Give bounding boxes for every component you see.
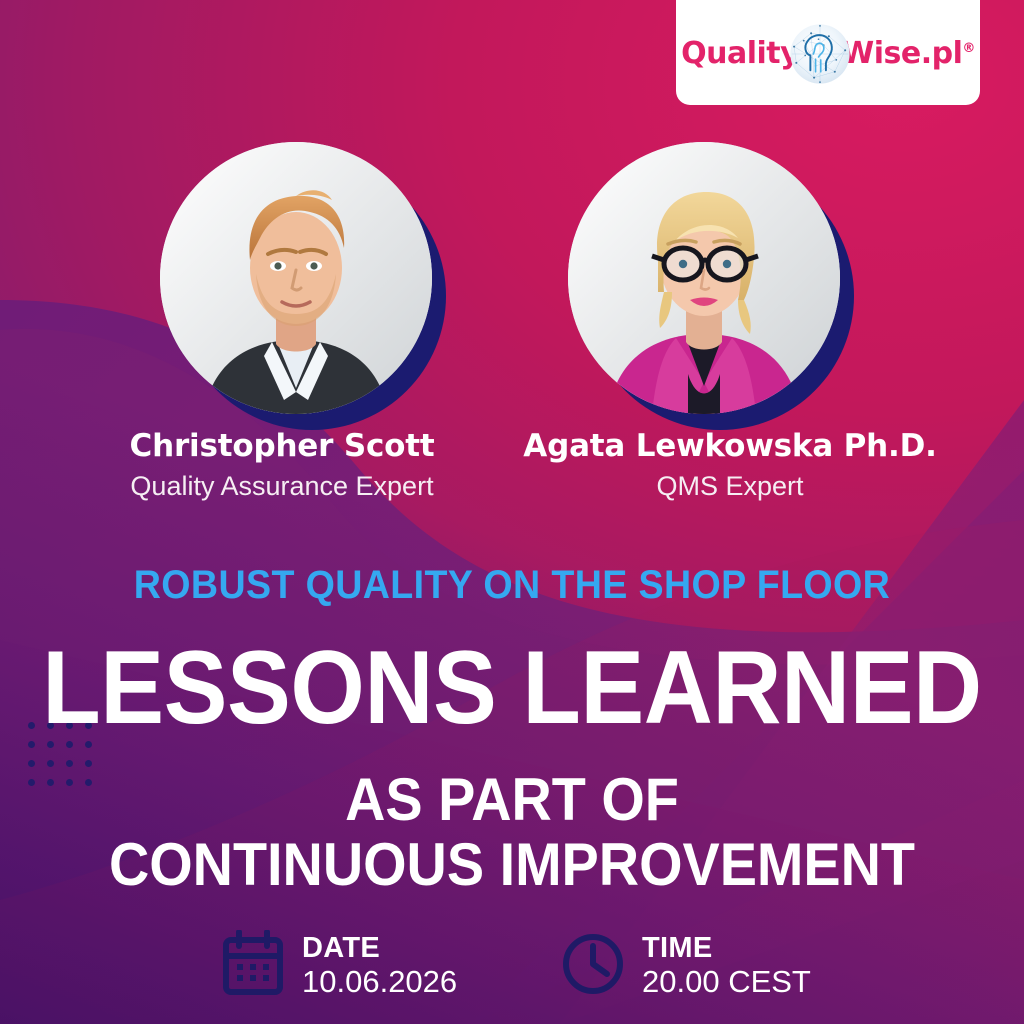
brain-network-sphere-icon <box>783 17 857 91</box>
logo-text-quality: Quality <box>681 39 799 69</box>
speaker-name-block-1: Christopher Scott Quality Assurance Expe… <box>52 430 512 503</box>
event-meta: DATE 10.06.2026 TIME 20.00 CEST <box>0 930 1024 1010</box>
clock-icon <box>562 930 624 1001</box>
brand-logo: Quality <box>681 17 975 91</box>
logo-text-wise: Wise.pl® <box>841 39 975 69</box>
event-date-text: DATE 10.06.2026 <box>302 933 457 999</box>
headline-kicker: ROBUST QUALITY ON THE SHOP FLOOR <box>31 563 994 608</box>
brand-logo-card: Quality <box>676 0 980 105</box>
speaker-role: QMS Expert <box>500 470 960 502</box>
date-value: 10.06.2026 <box>302 966 457 999</box>
headline-subtitle-line-2: CONTINUOUS IMPROVEMENT <box>36 833 988 898</box>
headline-subtitle-line-1: AS PART OF <box>36 768 988 833</box>
speaker-photos <box>0 132 1024 432</box>
event-date-block: DATE 10.06.2026 <box>222 930 457 1001</box>
registered-trademark-icon: ® <box>962 41 975 56</box>
speaker-role: Quality Assurance Expert <box>52 470 512 502</box>
time-label: TIME <box>642 933 811 963</box>
speaker-name-block-2: Agata Lewkowska Ph.D. QMS Expert <box>500 430 960 503</box>
speaker-avatar-1 <box>148 132 448 432</box>
headline-subtitle: AS PART OF CONTINUOUS IMPROVEMENT <box>36 768 988 898</box>
headline-main-title: LESSONS LEARNED <box>41 636 983 740</box>
time-value: 20.00 CEST <box>642 966 811 999</box>
date-label: DATE <box>302 933 457 963</box>
speaker-photo-agata-lewkowska <box>568 142 840 414</box>
calendar-icon <box>222 930 284 1001</box>
webinar-poster: Quality <box>0 0 1024 1024</box>
speaker-name: Christopher Scott <box>52 430 512 463</box>
logo-text-wise-label: Wise.pl <box>841 36 962 71</box>
speaker-photo-christopher-scott <box>160 142 432 414</box>
speaker-avatar-2 <box>556 132 856 432</box>
speaker-name: Agata Lewkowska Ph.D. <box>500 430 960 463</box>
speaker-names: Christopher Scott Quality Assurance Expe… <box>0 430 1024 526</box>
event-time-text: TIME 20.00 CEST <box>642 933 811 999</box>
event-time-block: TIME 20.00 CEST <box>562 930 811 1001</box>
